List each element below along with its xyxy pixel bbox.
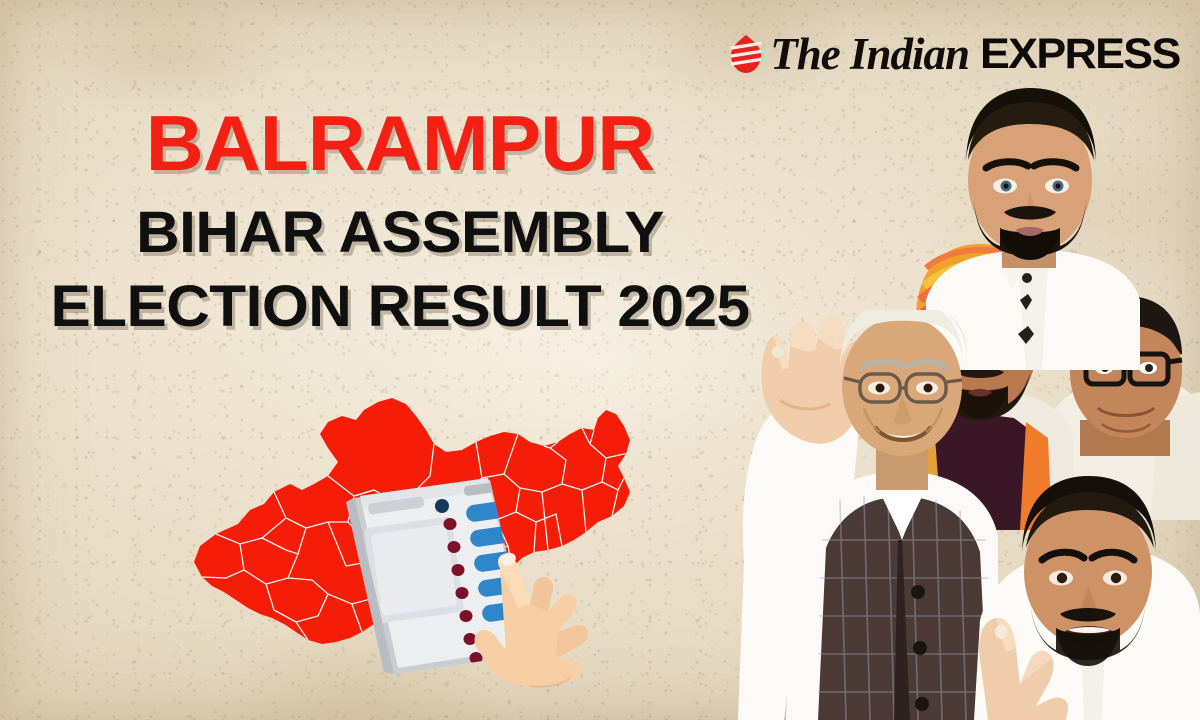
headline-line-3: ELECTION RESULT 2025 [0,278,816,336]
election-result-graphic: The Indian EXPRESS BALRAMPUR BIHAR ASSEM… [0,0,1200,720]
headline-line-2: BIHAR ASSEMBLY [0,204,816,262]
politician-collage [730,0,1200,720]
map-and-evm-illustration [178,372,648,692]
person-chirag-paswan [926,88,1140,370]
headline-block: BALRAMPUR BIHAR ASSEMBLY ELECTION RESULT… [0,104,800,336]
constituency-title: BALRAMPUR [0,104,812,182]
